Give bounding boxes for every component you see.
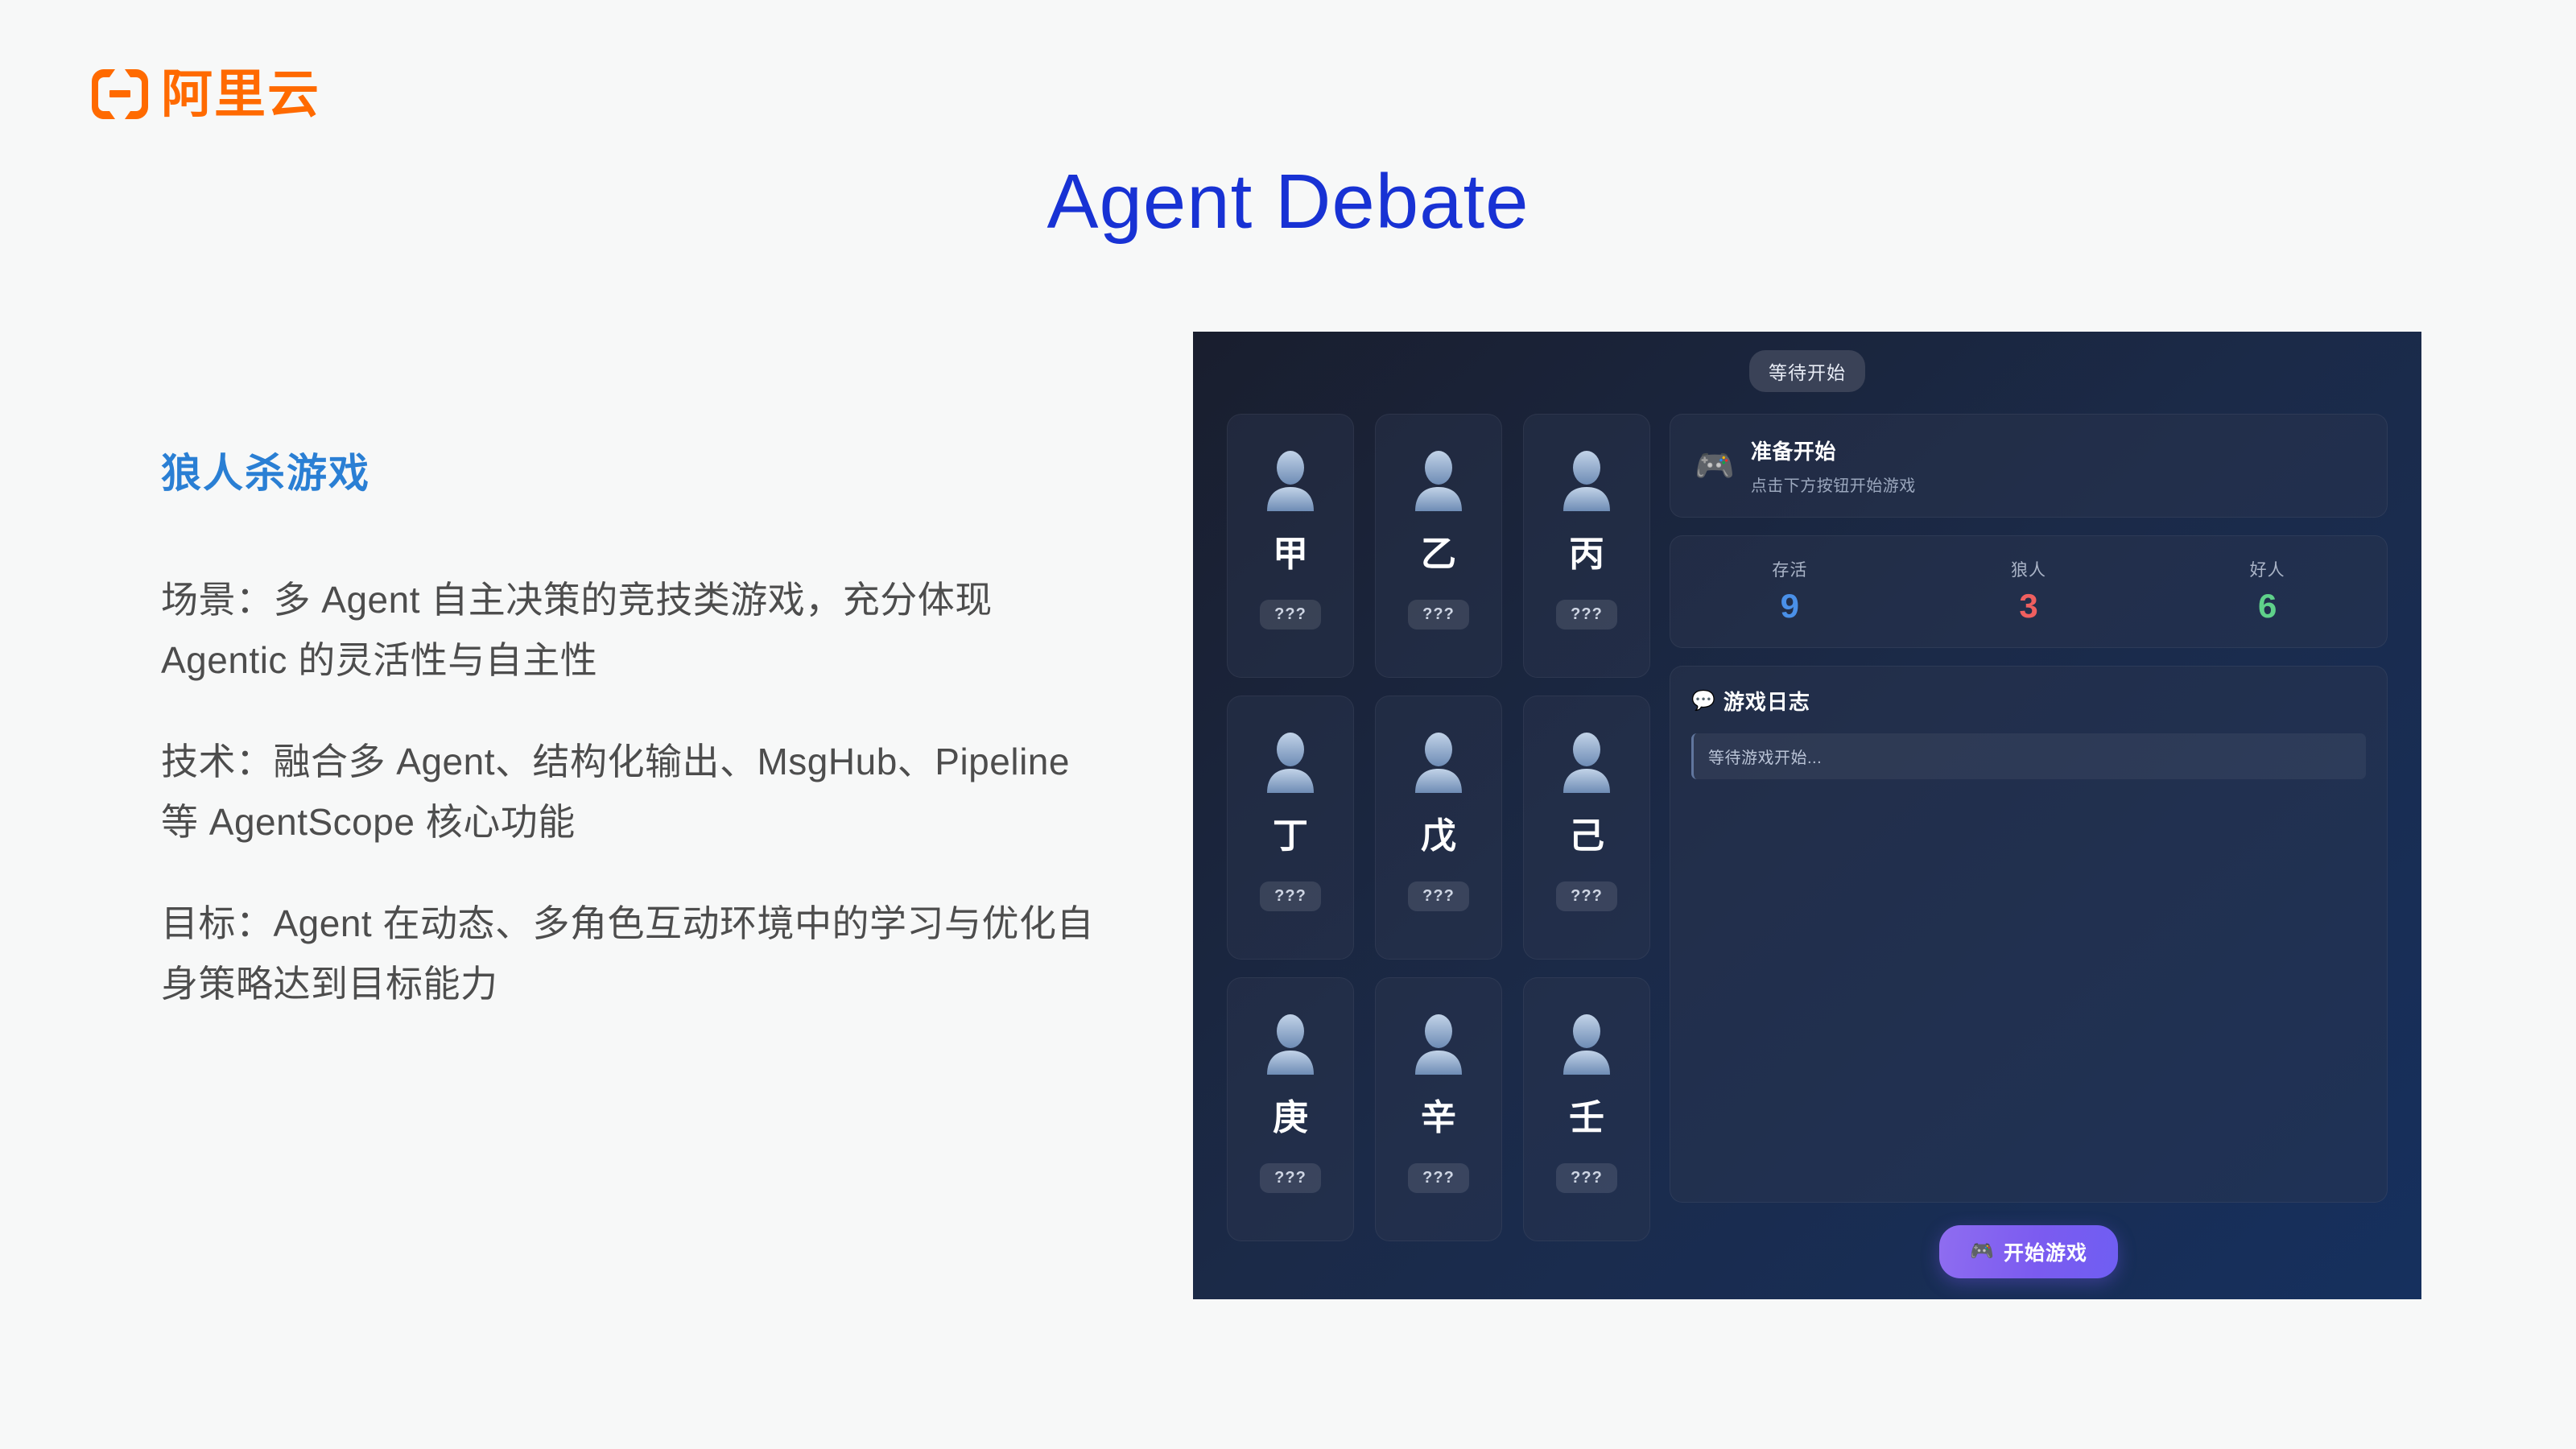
avatar-icon xyxy=(1558,730,1615,793)
avatar-icon xyxy=(1558,448,1615,511)
player-role-badge: ??? xyxy=(1556,600,1617,630)
game-log-title: 游戏日志 xyxy=(1724,686,1810,716)
stat-label: 存活 xyxy=(1670,557,1909,581)
paragraph-technology: 技术：融合多 Agent、结构化输出、MsgHub、Pipeline 等 Age… xyxy=(161,732,1111,852)
game-log-card: 💬 游戏日志 等待游戏开始... xyxy=(1670,666,2388,1203)
log-entry: 等待游戏开始... xyxy=(1691,733,2366,779)
player-name: 丙 xyxy=(1569,537,1604,572)
player-name: 甲 xyxy=(1273,537,1308,572)
player-card[interactable]: 戊 ??? xyxy=(1375,696,1502,960)
player-name: 丁 xyxy=(1273,819,1308,854)
start-button-container: 🎮 开始游戏 xyxy=(1670,1220,2388,1299)
stat-value: 9 xyxy=(1670,589,1909,623)
gamepad-icon: 🎮 xyxy=(1695,450,1735,482)
stats-card: 存活 9 狼人 3 好人 6 xyxy=(1670,535,2388,648)
stat-value: 3 xyxy=(1909,589,2149,623)
player-role-badge: ??? xyxy=(1260,600,1321,630)
player-role-badge: ??? xyxy=(1260,881,1321,911)
left-content-column: 狼人杀游戏 场景：多 Agent 自主决策的竞技类游戏，充分体现 Agentic… xyxy=(161,441,1111,1013)
avatar-icon xyxy=(1410,1012,1467,1075)
player-name: 壬 xyxy=(1569,1100,1604,1136)
player-role-badge: ??? xyxy=(1556,881,1617,911)
brand-name: 阿里云 xyxy=(161,68,320,120)
player-role-badge: ??? xyxy=(1408,881,1469,911)
player-role-badge: ??? xyxy=(1408,600,1469,630)
speech-bubble-icon: 💬 xyxy=(1691,691,1715,711)
stat-label: 狼人 xyxy=(1909,557,2149,581)
player-role-badge: ??? xyxy=(1260,1163,1321,1193)
player-card[interactable]: 己 ??? xyxy=(1523,696,1650,960)
game-log-entries[interactable]: 等待游戏开始... xyxy=(1691,733,2366,1183)
gamepad-icon: 🎮 xyxy=(1970,1242,1995,1261)
player-role-badge: ??? xyxy=(1556,1163,1617,1193)
player-card[interactable]: 壬 ??? xyxy=(1523,977,1650,1241)
stat-villagers: 好人 6 xyxy=(2148,557,2387,623)
stat-value: 6 xyxy=(2148,589,2387,623)
player-name: 辛 xyxy=(1421,1100,1456,1136)
stat-werewolves: 狼人 3 xyxy=(1909,557,2149,623)
section-heading: 狼人杀游戏 xyxy=(161,441,1111,499)
ready-status-card: 🎮 准备开始 点击下方按钮开始游戏 xyxy=(1670,414,2388,518)
paragraph-goal: 目标：Agent 在动态、多角色互动环境中的学习与优化自身策略达到目标能力 xyxy=(161,894,1111,1013)
player-name: 己 xyxy=(1569,819,1604,854)
avatar-icon xyxy=(1558,1012,1615,1075)
player-card[interactable]: 庚 ??? xyxy=(1227,977,1354,1241)
paragraph-scenario: 场景：多 Agent 自主决策的竞技类游戏，充分体现 Agentic 的灵活性与… xyxy=(161,570,1111,690)
avatar-icon xyxy=(1410,448,1467,511)
player-card[interactable]: 甲 ??? xyxy=(1227,414,1354,678)
page-title: Agent Debate xyxy=(0,159,2576,245)
ready-text-block: 准备开始 点击下方按钮开始游戏 xyxy=(1751,436,1916,496)
player-name: 戊 xyxy=(1421,819,1456,854)
status-badge-container: 等待开始 xyxy=(1193,350,2421,392)
player-card[interactable]: 丙 ??? xyxy=(1523,414,1650,678)
avatar-icon xyxy=(1262,730,1319,793)
player-role-badge: ??? xyxy=(1408,1163,1469,1193)
player-card[interactable]: 乙 ??? xyxy=(1375,414,1502,678)
ready-title: 准备开始 xyxy=(1751,436,1916,465)
game-app-panel: 等待开始 甲 ??? xyxy=(1193,332,2421,1299)
start-game-button[interactable]: 🎮 开始游戏 xyxy=(1939,1225,2118,1278)
avatar-icon xyxy=(1262,448,1319,511)
player-name: 乙 xyxy=(1421,537,1456,572)
status-badge: 等待开始 xyxy=(1749,350,1865,392)
avatar-icon xyxy=(1410,730,1467,793)
stat-label: 好人 xyxy=(2148,557,2387,581)
player-name: 庚 xyxy=(1273,1100,1308,1136)
alibaba-cloud-logo-icon xyxy=(90,68,150,121)
player-card[interactable]: 辛 ??? xyxy=(1375,977,1502,1241)
player-grid: 甲 ??? 乙 ??? xyxy=(1227,406,1650,1299)
ready-subtitle: 点击下方按钮开始游戏 xyxy=(1751,473,1916,496)
game-panel-body: 甲 ??? 乙 ??? xyxy=(1193,406,2421,1299)
stat-alive: 存活 9 xyxy=(1670,557,1909,623)
brand-logo: 阿里云 xyxy=(90,68,320,121)
slide-root: 阿里云 Agent Debate 狼人杀游戏 场景：多 Agent 自主决策的竞… xyxy=(0,0,2576,1449)
start-game-button-label: 开始游戏 xyxy=(2004,1237,2087,1266)
game-log-header: 💬 游戏日志 xyxy=(1691,686,2366,716)
avatar-icon xyxy=(1262,1012,1319,1075)
game-sidebar: 🎮 准备开始 点击下方按钮开始游戏 存活 9 狼人 3 xyxy=(1670,406,2388,1299)
player-card[interactable]: 丁 ??? xyxy=(1227,696,1354,960)
